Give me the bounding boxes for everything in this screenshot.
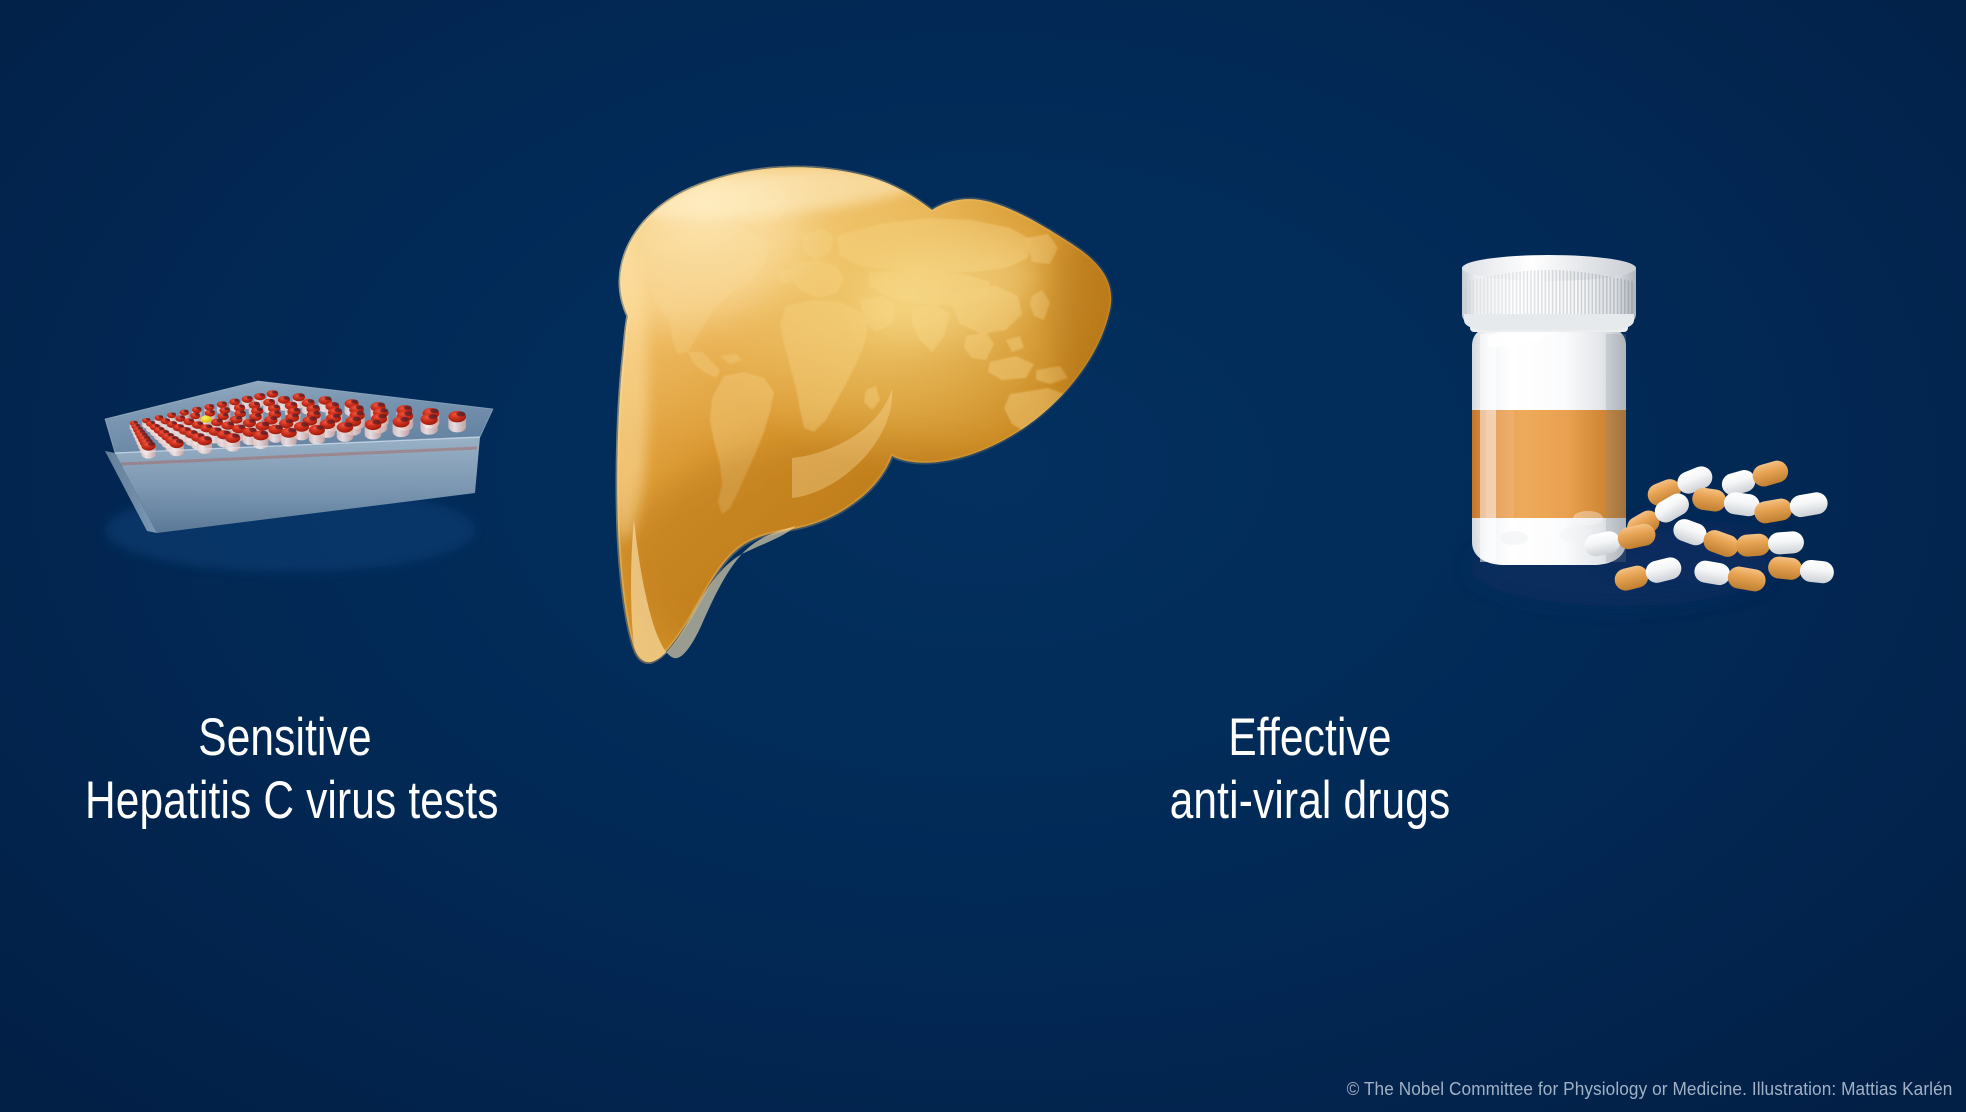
well-shadow [274, 405, 280, 409]
well-shadow [262, 422, 269, 426]
well-shadow [309, 417, 316, 421]
well-shadow [257, 408, 263, 411]
well-shadow [159, 427, 165, 430]
well-shadow [380, 408, 388, 412]
well-shadow [223, 413, 229, 416]
well-shadow [301, 422, 309, 426]
well-shadow [316, 425, 324, 430]
well-shadow [240, 410, 246, 413]
well-shadow [377, 402, 385, 406]
well-shadow [351, 399, 358, 403]
well-shadow [428, 414, 437, 419]
well-shadow [239, 405, 245, 408]
well-shadow [275, 425, 282, 429]
liver-svg [520, 140, 1140, 680]
well-shadow [197, 422, 203, 425]
well-shadow [148, 442, 155, 446]
well-shadow [313, 411, 320, 415]
illustration-canvas: Sensitive Hepatitis C virus tests Effect… [0, 0, 1966, 1112]
map-new-zealand [1092, 434, 1106, 452]
pill-bottle-svg [1430, 250, 1860, 670]
well-shadow [140, 430, 145, 433]
caption-right-line2: anti-viral drugs [1062, 770, 1558, 833]
well-shadow [308, 399, 315, 403]
caption-left-line2: Hepatitis C virus tests [85, 770, 485, 833]
well-shadow [313, 405, 320, 409]
well-shadow [293, 408, 300, 412]
well-shadow [292, 414, 299, 418]
bottle-shading-right [1606, 334, 1626, 562]
well-shadow [136, 424, 141, 427]
well-shadow [254, 402, 260, 405]
caption-right: Effective anti-viral drugs [1062, 707, 1558, 832]
microplate-illustration [75, 325, 505, 585]
well-shadow [404, 405, 412, 410]
well-shadow [232, 434, 240, 438]
well-shadow [288, 428, 296, 432]
well-shadow [176, 439, 183, 443]
well-shadow [378, 414, 386, 419]
copyright-notice: © The Nobel Committee for Physiology or … [1346, 1078, 1952, 1100]
well-shadow [356, 405, 363, 409]
well-shadow [400, 417, 409, 422]
well-shadow [155, 424, 160, 427]
well-shadow [189, 419, 194, 422]
well-shadow [238, 425, 245, 429]
well-shadow [206, 425, 212, 429]
well-shadow [272, 390, 278, 393]
capsule [1719, 458, 1790, 498]
well-shadow [353, 417, 361, 422]
well-shadow [270, 416, 277, 420]
well-shadow [234, 399, 239, 402]
well-shadow [327, 420, 335, 424]
liver-illustration [520, 140, 1140, 680]
well-shadow [159, 415, 163, 418]
well-shadow [172, 421, 177, 424]
well-shadow [224, 407, 230, 410]
well-shadow [236, 416, 242, 420]
well-shadow [249, 428, 256, 432]
well-shadow [372, 420, 380, 425]
well-shadow [259, 393, 265, 396]
well-shadow [247, 396, 253, 399]
bottle-cap [1462, 255, 1636, 330]
caption-left: Sensitive Hepatitis C virus tests [85, 707, 485, 832]
well-shadow [180, 416, 185, 419]
well-shadow [217, 419, 223, 422]
liver-rim-left [604, 240, 648, 540]
well-shadow [195, 413, 200, 416]
well-shadow [138, 427, 143, 430]
well-shadow [269, 399, 275, 402]
cap-ribbing [1466, 270, 1632, 314]
well-shadow [255, 413, 261, 417]
cap-lip [1464, 314, 1634, 330]
well-shadow [165, 418, 170, 421]
well-shadow [209, 404, 214, 407]
well-shadow [227, 422, 233, 426]
well-shadow [333, 414, 341, 418]
well-shadow [274, 411, 281, 415]
well-shadow [222, 402, 227, 405]
well-shadow [344, 423, 352, 428]
well-shadow [404, 411, 412, 416]
well-highlighted [200, 416, 211, 423]
caption-right-line1: Effective [1062, 707, 1558, 770]
well-shadow [184, 410, 189, 413]
well-shadow [171, 413, 176, 416]
well-shadow [335, 408, 342, 412]
well-shadow [260, 431, 268, 435]
well-shadow [204, 436, 211, 440]
well-shadow [146, 418, 150, 420]
well-shadow [133, 421, 137, 423]
well-shadow [286, 419, 293, 423]
well-shadow [430, 408, 438, 413]
pill-bottle-illustration [1430, 250, 1860, 670]
well-shadow [325, 396, 332, 400]
well-shadow [457, 411, 466, 416]
well-shadow [298, 393, 304, 397]
well-shadow [332, 402, 339, 406]
well-shadow [196, 407, 201, 410]
capsule [1753, 491, 1830, 526]
well-shadow [249, 419, 256, 423]
well-shadow [178, 424, 184, 427]
capsule [1767, 556, 1835, 585]
well-shadow [284, 396, 290, 399]
well-shadow [357, 411, 365, 415]
well-shadow [210, 410, 215, 413]
microplate-svg [75, 325, 505, 585]
caption-left-line1: Sensitive [85, 707, 485, 770]
liver-body [520, 140, 1158, 680]
well-shadow [150, 421, 155, 424]
bottle [1462, 255, 1636, 565]
well-shadow [291, 402, 297, 406]
bottle-highlight-left [1480, 334, 1496, 562]
